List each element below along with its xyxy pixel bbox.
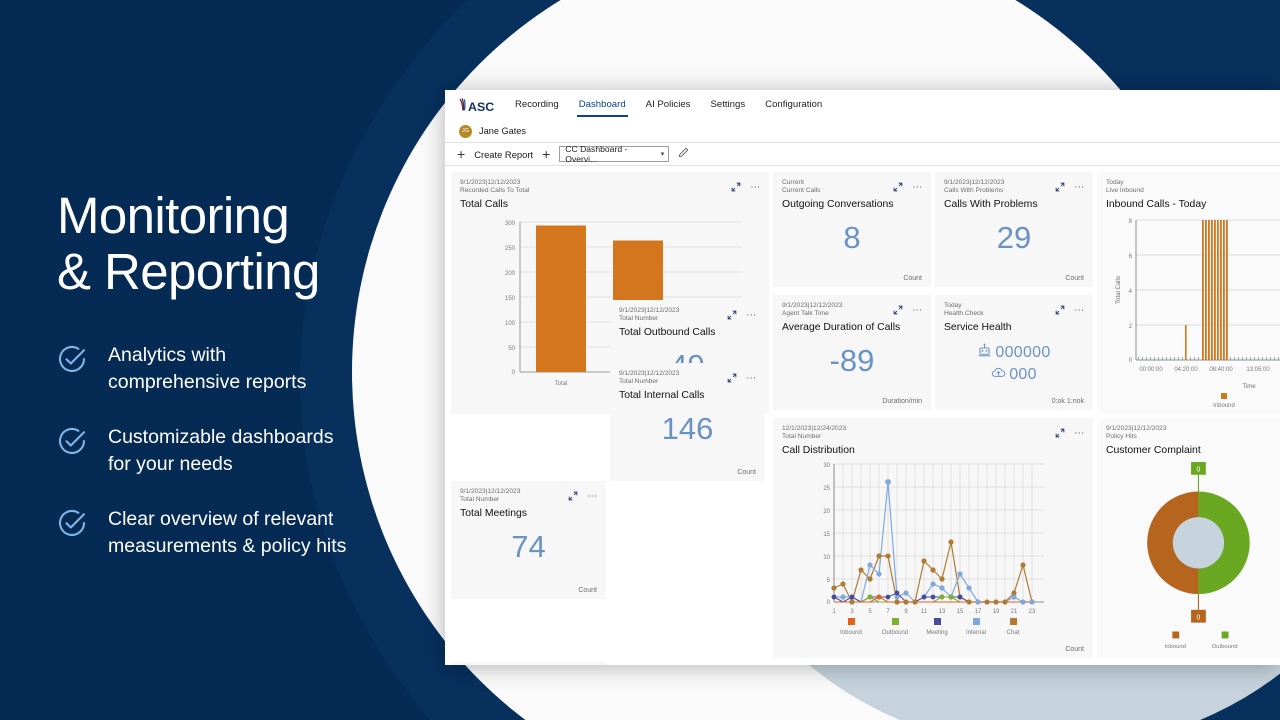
card-title: Call Distribution <box>782 445 1084 456</box>
card-total-meetings[interactable]: 9/1/2023|12/12/2023 Total Number Total M… <box>451 481 606 599</box>
expand-icon[interactable] <box>727 370 737 388</box>
card-date-range: 9/1/2023|12/12/2023 <box>460 179 760 187</box>
kpi-value: 29 <box>944 222 1084 253</box>
nav-item-settings[interactable]: Settings <box>700 93 755 117</box>
kpi-value: 74 <box>460 531 597 562</box>
svg-text:1: 1 <box>832 609 836 615</box>
card-title: Service Health <box>944 322 1084 333</box>
list-item-label: Clear overview of relevant measurements … <box>108 506 346 559</box>
svg-text:21: 21 <box>1011 609 1018 615</box>
card-title: Customer Complaint <box>1106 445 1280 456</box>
card-subtitle: Live Inbound <box>1106 187 1280 195</box>
card-service-health[interactable]: Today Health Check Service Health ⋯ <box>935 295 1093 410</box>
svg-text:10: 10 <box>823 555 830 561</box>
card-calls-with-problems[interactable]: 9/1/2023|12/12/2023 Calls With Problems … <box>935 172 1093 287</box>
card-average-duration[interactable]: 9/1/2023|12/12/2023 Agent Talk Time Aver… <box>773 295 931 410</box>
svg-text:17: 17 <box>975 609 982 615</box>
check-circle-icon <box>57 344 87 379</box>
list-item-label: Customizable dashboards for your needs <box>108 424 333 477</box>
user-bar: JG Jane Gates <box>445 120 1280 142</box>
nav-item-configuration[interactable]: Configuration <box>755 93 832 117</box>
card-title: Inbound Calls - Today <box>1106 199 1280 210</box>
svg-text:13: 13 <box>939 609 946 615</box>
svg-text:0: 0 <box>1197 466 1201 473</box>
more-options-icon[interactable]: ⋯ <box>912 307 923 315</box>
more-options-icon[interactable]: ⋯ <box>746 375 757 383</box>
kpi-value: 146 <box>619 413 756 444</box>
card-title: Total Internal Calls <box>619 390 756 401</box>
expand-icon[interactable] <box>893 179 903 197</box>
customer-complaint-donut-chart: 0 0 Inbound Outbound <box>1106 460 1280 653</box>
card-unit: Count <box>782 646 1084 653</box>
dashboard-select[interactable]: CC Dashboard - Overvi... ▾ <box>559 146 669 162</box>
card-subtitle: Policy Hits <box>1106 433 1280 441</box>
card-action-group: ⋯ <box>727 370 757 388</box>
card-date-range: 12/1/2023|12/24/2023 <box>782 425 1084 433</box>
server-robot-icon <box>977 343 992 363</box>
card-title: Total Meetings <box>460 508 597 519</box>
svg-text:30: 30 <box>823 463 830 469</box>
more-options-icon[interactable]: ⋯ <box>912 184 923 192</box>
add-widget-plus-icon[interactable]: + <box>542 147 550 161</box>
card-action-group: ⋯ <box>893 179 923 197</box>
card-action-group: ⋯ <box>568 488 598 506</box>
inbound-calls-bar-chart: 86 42 0 Total Calls <box>1106 212 1280 408</box>
avatar[interactable]: JG <box>459 125 472 138</box>
card-action-group: ⋯ <box>1055 425 1085 443</box>
svg-text:20: 20 <box>823 509 830 515</box>
svg-text:5: 5 <box>868 609 872 615</box>
svg-text:150: 150 <box>505 296 516 302</box>
svg-text:Internal: Internal <box>966 630 986 636</box>
svg-text:2: 2 <box>1129 324 1133 330</box>
svg-text:25: 25 <box>823 486 830 492</box>
page-title: Monitoring & Reporting <box>57 188 457 300</box>
svg-text:4: 4 <box>1129 289 1133 295</box>
svg-text:8: 8 <box>1129 219 1133 225</box>
check-circle-icon <box>57 426 87 461</box>
cloud-icon <box>991 366 1006 384</box>
plus-icon[interactable]: + <box>457 147 465 161</box>
card-unit: 0:ok 1:nok <box>944 398 1084 405</box>
expand-icon[interactable] <box>727 307 737 325</box>
card-total-incoming-calls[interactable]: 9/1/2023|12/12/2023 Total Number Total I… <box>451 662 606 665</box>
service-health-cloud-row: 000 <box>944 366 1084 384</box>
card-action-group: ⋯ <box>1055 302 1085 320</box>
application-window: ASC Recording Dashboard AI Policies Sett… <box>445 90 1280 665</box>
user-name: Jane Gates <box>479 126 526 136</box>
svg-text:250: 250 <box>505 246 516 252</box>
card-call-distribution[interactable]: 12/1/2023|12/24/2023 Total Number Call D… <box>773 418 1093 658</box>
card-total-internal-calls[interactable]: 9/1/2023|12/12/2023 Total Number Total I… <box>610 363 765 481</box>
card-inbound-calls-today[interactable]: Today Live Inbound Inbound Calls - Today… <box>1097 172 1280 414</box>
card-subtitle: Total Number <box>782 433 1084 441</box>
top-navigation-bar: ASC Recording Dashboard AI Policies Sett… <box>445 90 1280 120</box>
kpi-value: 8 <box>782 222 922 253</box>
chevron-down-icon: ▾ <box>661 150 665 158</box>
card-title: Total Outbound Calls <box>619 327 756 338</box>
svg-text:100: 100 <box>505 321 516 327</box>
svg-text:15: 15 <box>823 532 830 538</box>
promo-bullet-list: Analytics with comprehensive reports Cus… <box>57 342 457 559</box>
card-unit: Duration/min <box>782 398 922 405</box>
svg-text:9: 9 <box>904 609 908 615</box>
svg-text:Time: Time <box>1242 384 1256 390</box>
card-title: Total Calls <box>460 199 760 210</box>
more-options-icon[interactable]: ⋯ <box>587 493 598 501</box>
list-item-label: Analytics with comprehensive reports <box>108 342 306 395</box>
card-title: Outgoing Conversations <box>782 199 922 210</box>
svg-text:04:20:00: 04:20:00 <box>1174 367 1198 373</box>
more-options-icon[interactable]: ⋯ <box>750 184 761 192</box>
svg-text:23: 23 <box>1029 609 1036 615</box>
svg-text:3: 3 <box>850 609 854 615</box>
card-action-group: ⋯ <box>1055 179 1085 197</box>
list-item: Analytics with comprehensive reports <box>57 342 457 395</box>
nav-item-ai-policies[interactable]: AI Policies <box>636 93 701 117</box>
card-unit: Count <box>944 275 1084 282</box>
dashboard-grid: 9/1/2023|12/12/2023 Recorded Calls To To… <box>445 166 1280 665</box>
card-subtitle: Recorded Calls To Total <box>460 187 760 195</box>
expand-icon[interactable] <box>1055 179 1065 197</box>
card-title: Calls With Problems <box>944 199 1084 210</box>
expand-icon[interactable] <box>731 179 741 197</box>
more-options-icon[interactable]: ⋯ <box>1074 184 1085 192</box>
svg-text:15: 15 <box>957 609 964 615</box>
check-circle-icon <box>57 508 87 543</box>
card-unit: Count <box>782 275 922 282</box>
svg-text:Meeting: Meeting <box>926 630 947 636</box>
card-customer-complaint[interactable]: 9/1/2023|12/12/2023 Policy Hits Customer… <box>1097 418 1280 658</box>
svg-text:0: 0 <box>1129 358 1133 364</box>
create-report-button[interactable]: Create Report <box>474 149 533 160</box>
card-date-range: 9/1/2023|12/12/2023 <box>1106 425 1280 433</box>
promo-panel: Monitoring & Reporting Analytics with co… <box>57 188 457 559</box>
svg-text:11: 11 <box>921 609 928 615</box>
more-options-icon[interactable]: ⋯ <box>1074 430 1085 438</box>
service-health-cloud-value: 000 <box>1009 366 1037 384</box>
svg-text:200: 200 <box>505 271 516 277</box>
svg-text:Total: Total <box>555 381 568 387</box>
svg-text:6: 6 <box>1129 254 1133 260</box>
svg-text:ASC: ASC <box>468 100 494 114</box>
more-options-icon[interactable]: ⋯ <box>746 312 757 320</box>
svg-text:0: 0 <box>512 370 516 376</box>
expand-icon[interactable] <box>568 488 578 506</box>
service-health-server-row: 000000 <box>944 343 1084 363</box>
card-unit: Count <box>460 587 597 594</box>
svg-text:Outbound: Outbound <box>1212 644 1238 650</box>
dashboard-select-value: CC Dashboard - Overvi... <box>565 144 660 164</box>
svg-text:08:40:00: 08:40:00 <box>1209 367 1233 373</box>
service-health-server-value: 000000 <box>995 344 1050 362</box>
svg-text:7: 7 <box>886 609 890 615</box>
dashboard-toolbar: + Create Report + CC Dashboard - Overvi.… <box>445 142 1280 166</box>
card-title: Average Duration of Calls <box>782 322 922 333</box>
card-outgoing-conversations[interactable]: Current Current Calls Outgoing Conversat… <box>773 172 931 287</box>
svg-text:5: 5 <box>827 578 831 584</box>
more-options-icon[interactable]: ⋯ <box>1074 307 1085 315</box>
card-unit: Count <box>619 469 756 476</box>
svg-text:Inbound: Inbound <box>1213 403 1235 408</box>
svg-text:Inbound: Inbound <box>840 630 862 636</box>
svg-text:Inbound: Inbound <box>1165 644 1186 650</box>
svg-text:300: 300 <box>505 221 516 227</box>
svg-text:0: 0 <box>1197 614 1201 621</box>
pencil-icon[interactable] <box>678 145 689 163</box>
card-action-group: ⋯ <box>893 302 923 320</box>
svg-text:19: 19 <box>993 609 1000 615</box>
nav-item-dashboard[interactable]: Dashboard <box>569 93 636 117</box>
nav-item-recording[interactable]: Recording <box>505 93 569 117</box>
card-action-group: ⋯ <box>731 179 761 197</box>
asc-logo[interactable]: ASC <box>453 97 505 114</box>
card-action-group: ⋯ <box>727 307 757 325</box>
svg-text:13:05:00: 13:05:00 <box>1246 367 1270 373</box>
svg-text:50: 50 <box>508 346 515 352</box>
list-item: Clear overview of relevant measurements … <box>57 506 457 559</box>
svg-text:0: 0 <box>827 600 831 606</box>
svg-text:Outbound: Outbound <box>882 630 908 636</box>
svg-text:Total Calls: Total Calls <box>1116 276 1122 304</box>
svg-text:Chat: Chat <box>1007 630 1020 636</box>
expand-icon[interactable] <box>1055 425 1065 443</box>
expand-icon[interactable] <box>1055 302 1065 320</box>
card-date-range: Today <box>1106 179 1280 187</box>
call-distribution-line-chart: 3025 2015 105 0 <box>782 458 1082 636</box>
svg-text:00:00:00: 00:00:00 <box>1139 367 1163 373</box>
kpi-value: -89 <box>782 345 922 376</box>
list-item: Customizable dashboards for your needs <box>57 424 457 477</box>
expand-icon[interactable] <box>893 302 903 320</box>
